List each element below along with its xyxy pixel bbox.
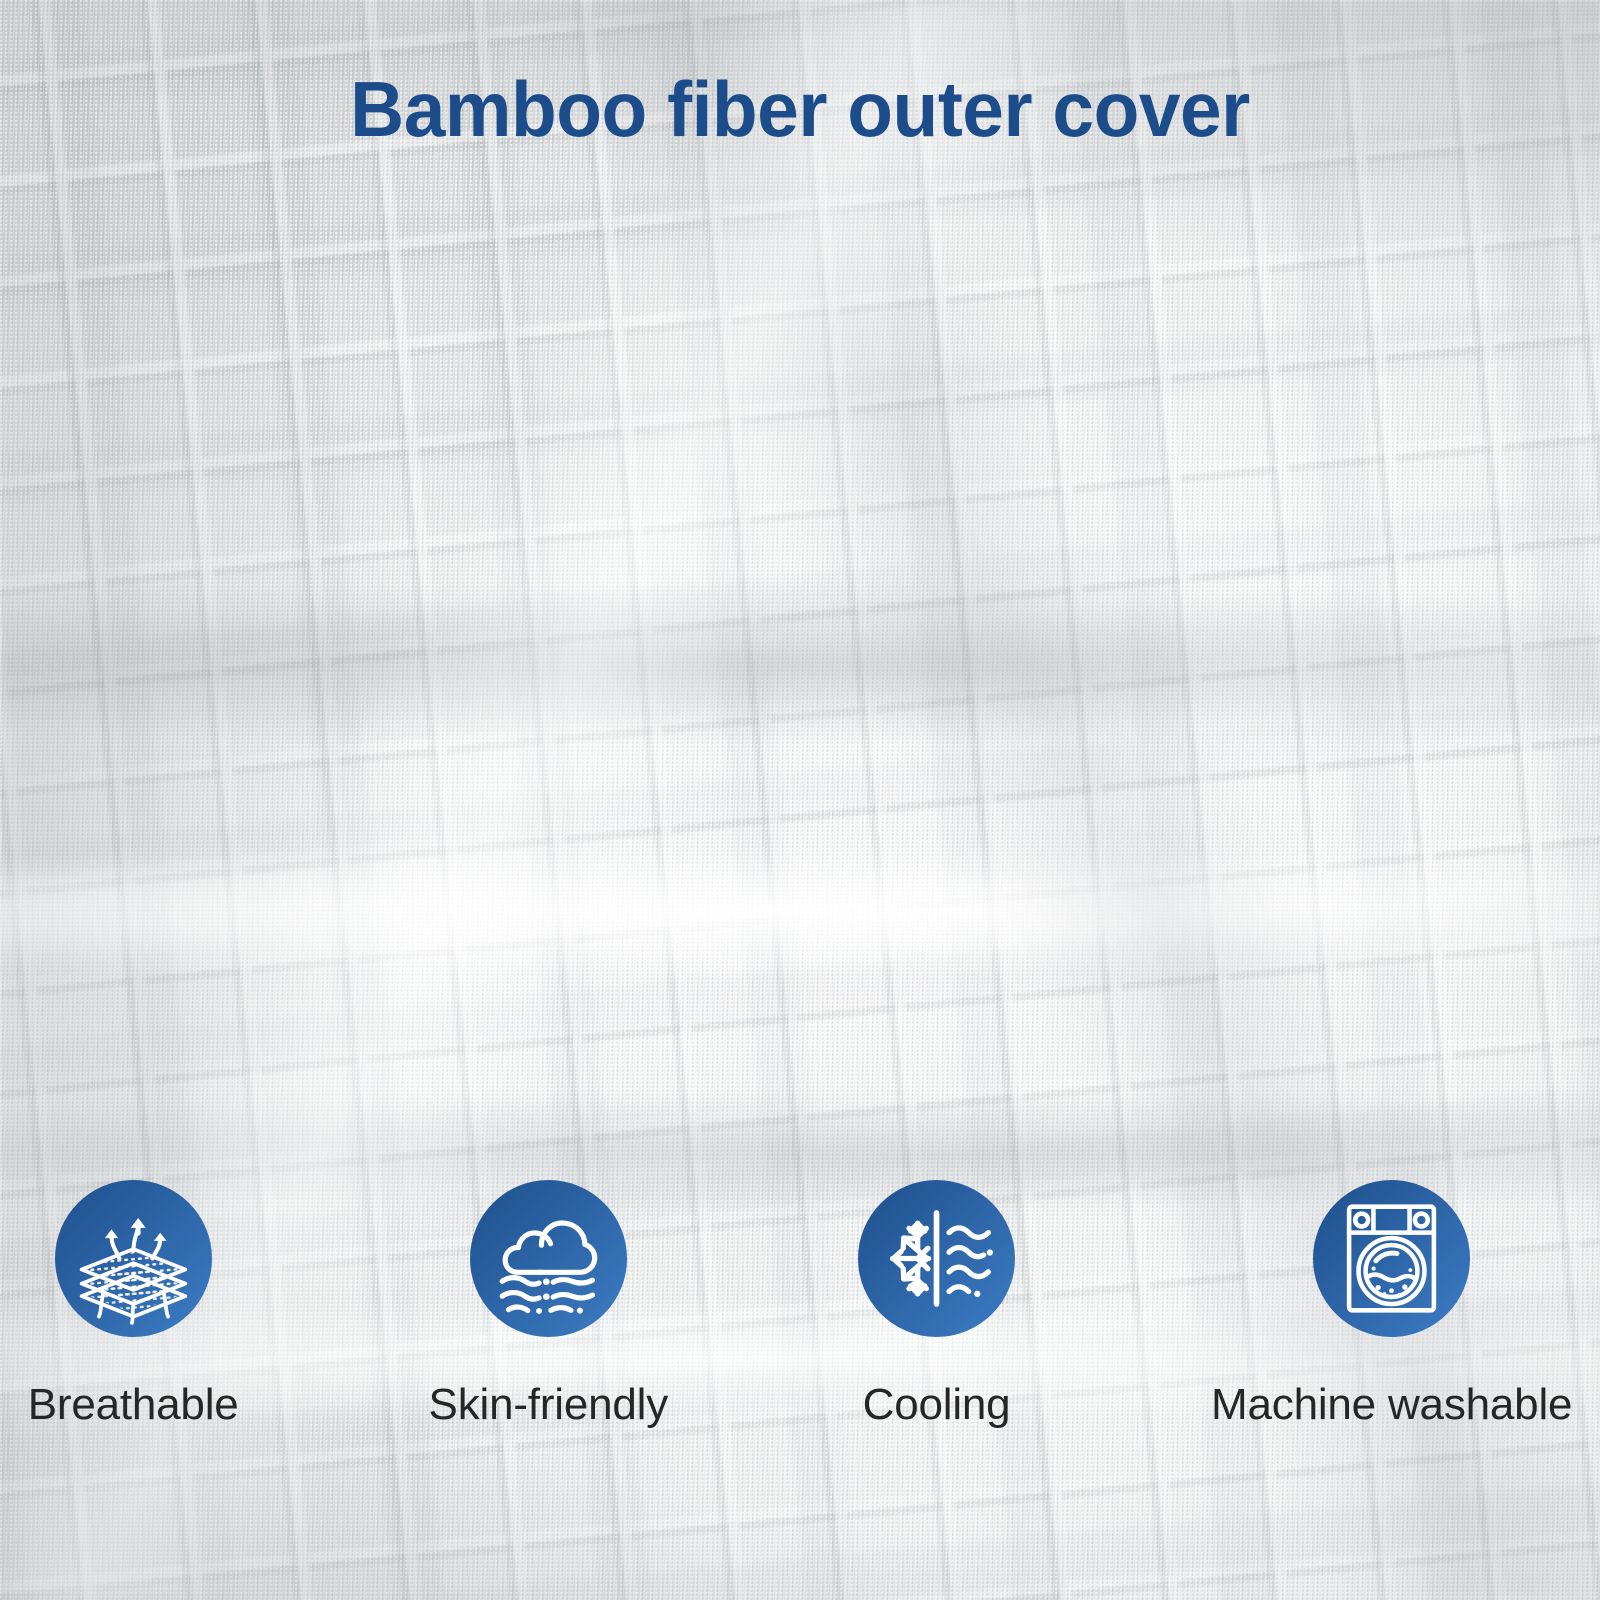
- feature-label-cooling: Cooling: [863, 1383, 1011, 1427]
- washing-machine-icon: [1313, 1180, 1470, 1337]
- product-feature-image: Bamboo fiber outer cover: [0, 0, 1600, 1600]
- feature-machine-washable: Machine washable: [1211, 1180, 1572, 1427]
- breathable-layers-arrows-icon: [55, 1180, 212, 1337]
- breathable-icon-badge: [55, 1180, 212, 1337]
- feature-breathable: Breathable: [28, 1180, 239, 1427]
- skin-friendly-icon-badge: [470, 1180, 627, 1337]
- cooling-icon-badge: [858, 1180, 1015, 1337]
- feature-row: Breathable: [60, 1180, 1540, 1427]
- feature-label-machine-washable: Machine washable: [1211, 1383, 1572, 1427]
- feature-cooling: Cooling: [858, 1180, 1015, 1427]
- snowflake-airflow-icon: [858, 1180, 1015, 1337]
- machine-washable-icon-badge: [1313, 1180, 1470, 1337]
- cloud-soft-waves-icon: [470, 1180, 627, 1337]
- feature-skin-friendly: Skin-friendly: [429, 1180, 669, 1427]
- feature-label-skin-friendly: Skin-friendly: [429, 1383, 669, 1427]
- page-title: Bamboo fiber outer cover: [32, 70, 1568, 148]
- feature-label-breathable: Breathable: [28, 1383, 239, 1427]
